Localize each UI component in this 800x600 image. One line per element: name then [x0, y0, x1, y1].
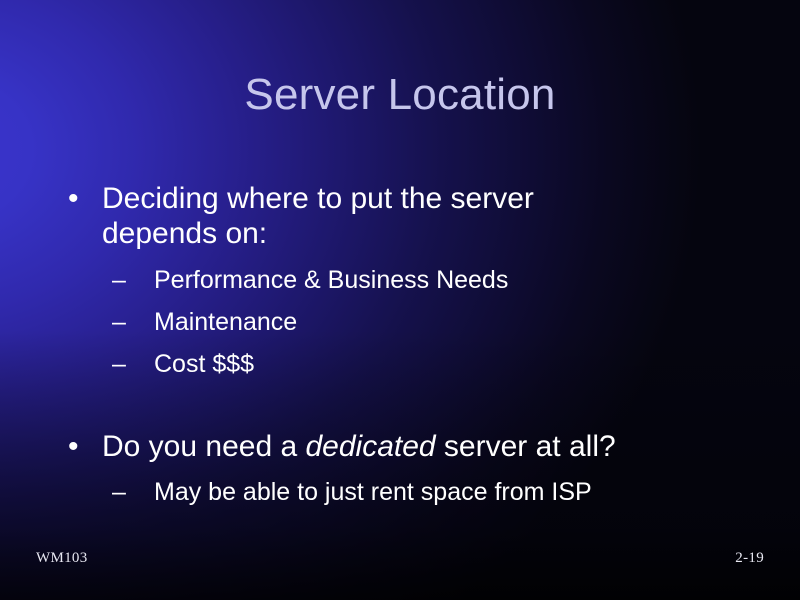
- presentation-slide: Server Location • Deciding where to put …: [0, 0, 800, 600]
- bullet-item-6: – May be able to just rent space from IS…: [62, 478, 760, 506]
- bullet-text-5: Do you need a dedicated server at all?: [102, 430, 622, 465]
- bullet-text-5-emphasis: dedicated: [305, 430, 435, 463]
- bullet-marker-dash-icon: –: [112, 266, 126, 294]
- bullet-text-1: Deciding where to put the server depends…: [102, 182, 622, 252]
- bullet-text-5-suffix: server at all?: [436, 430, 616, 463]
- bullet-item-1: • Deciding where to put the server depen…: [62, 182, 760, 252]
- bullet-text-2: Performance & Business Needs: [154, 266, 508, 294]
- bullet-text-4: Cost $$$: [154, 350, 254, 378]
- bullet-text-5-prefix: Do you need a: [102, 430, 305, 463]
- bullet-marker-dash-icon: –: [112, 308, 126, 336]
- bullet-text-6: May be able to just rent space from ISP: [154, 478, 592, 506]
- slide-title: Server Location: [0, 72, 800, 118]
- bullet-marker-dash-icon: –: [112, 350, 126, 378]
- slide-content: Server Location • Deciding where to put …: [0, 0, 800, 600]
- slide-body: • Deciding where to put the server depen…: [62, 182, 760, 506]
- bullet-marker-dash-icon: –: [112, 478, 126, 506]
- slide-footer: WM103 2-19: [36, 550, 764, 567]
- bullet-group-spacer: [62, 378, 760, 430]
- bullet-item-5: • Do you need a dedicated server at all?: [62, 430, 760, 465]
- bullet-item-4: – Cost $$$: [62, 350, 760, 378]
- bullet-marker-dot-icon: •: [68, 430, 79, 465]
- footer-course-code: WM103: [36, 550, 88, 567]
- bullet-item-2: – Performance & Business Needs: [62, 266, 760, 294]
- bullet-marker-dot-icon: •: [68, 182, 79, 217]
- bullet-item-3: – Maintenance: [62, 308, 760, 336]
- bullet-text-3: Maintenance: [154, 308, 297, 336]
- footer-page-number: 2-19: [735, 550, 764, 567]
